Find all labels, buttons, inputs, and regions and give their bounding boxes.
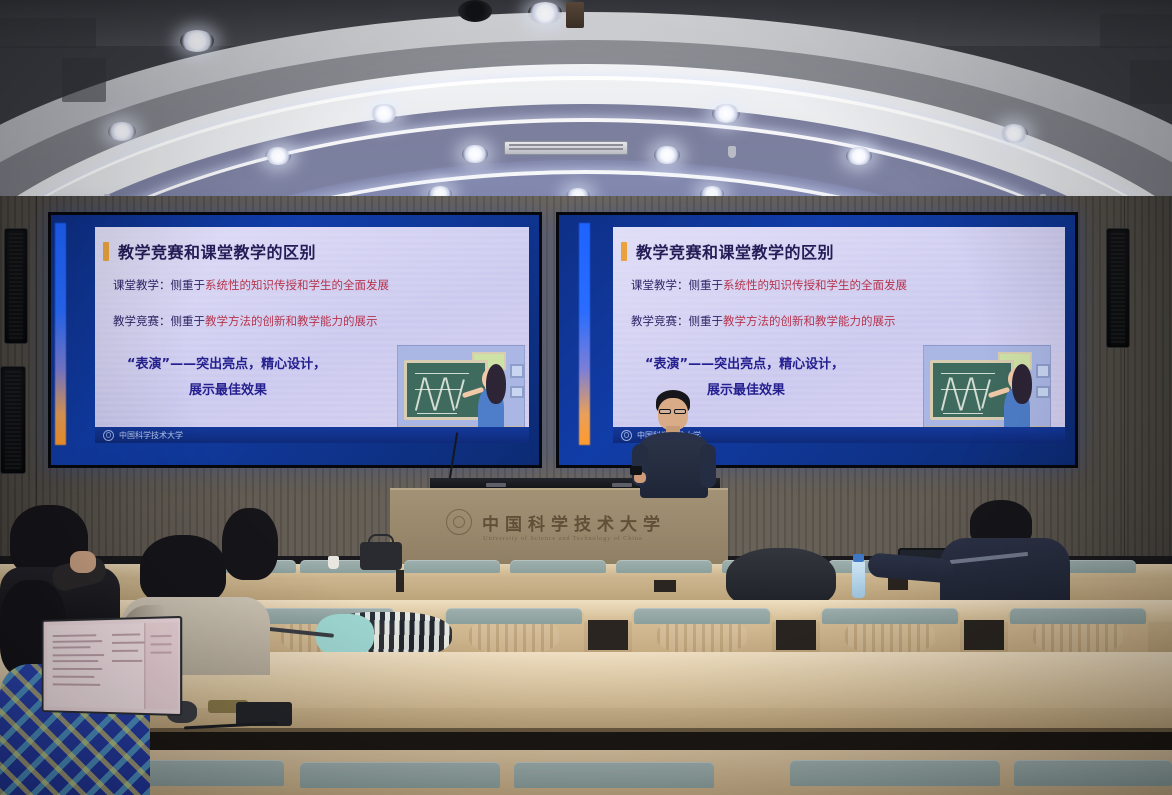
presenter-glasses-icon [659, 409, 671, 414]
slide-bullet-1-highlight: 系统性的知识传授和学生的全面发展 [205, 278, 389, 292]
laptop-icon [38, 618, 180, 718]
slide-bullet-2-highlight: 教学方法的创新和教学能力的展示 [723, 314, 896, 328]
audience-person-3 [222, 508, 288, 588]
slide-bullet-1: 课堂教学：侧重于系统性的知识传授和学生的全面发展 [631, 277, 907, 293]
slide-bullet-2-prefix: 教学竞赛：侧重于 [113, 314, 205, 328]
podium-name-cn: 中国科学技术大学 [482, 510, 666, 535]
seat-cushion [514, 762, 714, 788]
slide-bullet-1-prefix: 课堂教学：侧重于 [113, 278, 205, 292]
slide-bullet-2-highlight: 教学方法的创新和教学能力的展示 [205, 314, 378, 328]
speaker-icon [4, 228, 28, 344]
person-hair [140, 535, 226, 605]
title-accent-bar [103, 242, 109, 261]
ceiling-projector-mount [566, 2, 584, 28]
seat-cushion [634, 608, 770, 624]
screen-edge-gradient-left [55, 223, 66, 446]
slide-title: 教学竞赛和课堂教学的区别 [636, 239, 834, 263]
ceiling-grille [62, 58, 106, 102]
seat-gap [588, 620, 628, 650]
desk-underside-shadow [0, 728, 1172, 750]
seat-cushion [616, 560, 712, 573]
presenter-torso [640, 440, 708, 498]
water-bottle-icon [852, 560, 865, 598]
cartoon-poster [510, 386, 524, 398]
slide-footer-text: 中国科学技术大学 [119, 430, 183, 441]
seat-cushion [1010, 608, 1146, 624]
seat-cushion [1014, 760, 1172, 786]
ceiling-grille [0, 18, 96, 48]
laptop-screen [42, 616, 183, 716]
slide-bullet-1-highlight: 系统性的知识传授和学生的全面发展 [723, 278, 907, 292]
downlight-icon [462, 145, 488, 163]
audience-person-right [940, 500, 1070, 610]
slide-title-row: 教学竞赛和课堂教学的区别 [103, 239, 316, 263]
presenter-clicker [630, 466, 642, 475]
ustc-logo-icon [446, 509, 472, 535]
screen-edge-gradient-left [579, 223, 590, 446]
slide-bullet-2: 教学竞赛：侧重于教学方法的创新和教学能力的展示 [631, 313, 896, 329]
bottle-cap [853, 554, 864, 562]
downlight-icon [108, 122, 136, 141]
person-hand [70, 551, 96, 573]
slide-bullet-2: 教学竞赛：侧重于教学方法的创新和教学能力的展示 [113, 313, 378, 329]
cartoon-poster [1036, 364, 1050, 378]
slide-quote-line-2: 展示最佳效果 [189, 379, 267, 398]
ceiling-air-vent [504, 141, 628, 155]
slide-quote-line-1: “表演”——突出亮点，精心设计， [645, 353, 844, 372]
seat-cushion [790, 760, 1000, 786]
downlight-icon [180, 30, 214, 52]
slide-bullet-1: 课堂教学：侧重于系统性的知识传授和学生的全面发展 [113, 277, 389, 293]
downlight-icon [1000, 124, 1028, 143]
ceiling-grille [1100, 14, 1172, 48]
downlight-icon [370, 104, 398, 123]
seat-gap [964, 620, 1004, 650]
cup-icon [328, 556, 339, 569]
seat-gap [654, 580, 676, 592]
slide-bullet-1-prefix: 课堂教学：侧重于 [631, 278, 723, 292]
speaker-icon [1106, 228, 1130, 348]
slide-footer-left: 中国科学技术大学 [95, 427, 529, 443]
downlight-icon [528, 2, 562, 24]
slide-bullet-2-prefix: 教学竞赛：侧重于 [631, 314, 723, 328]
ceiling-grille [1130, 60, 1172, 104]
lecture-hall-photo: 教学竞赛和课堂教学的区别 课堂教学：侧重于系统性的知识传授和学生的全面发展 教学… [0, 0, 1172, 795]
presenter [630, 390, 726, 498]
seat-cushion [404, 560, 500, 573]
cartoon-poster [510, 364, 524, 378]
sprinkler-icon [728, 146, 736, 158]
downlight-icon [712, 104, 740, 123]
seat-cushion [446, 608, 582, 624]
downlight-icon [265, 147, 291, 165]
slide-left: 教学竞赛和课堂教学的区别 课堂教学：侧重于系统性的知识传授和学生的全面发展 教学… [95, 227, 529, 443]
handbag-icon [360, 542, 402, 570]
seat-gap [888, 578, 908, 590]
seat-gap [776, 620, 816, 650]
presenter-glasses-icon [674, 409, 686, 414]
downlight-icon [654, 146, 680, 164]
seat-cushion [300, 762, 500, 788]
slide-title-row: 教学竞赛和课堂教学的区别 [621, 239, 834, 263]
cartoon-teacher-hair [486, 364, 506, 404]
speaker-icon [0, 366, 26, 474]
seat-gap [396, 570, 404, 592]
podium-name-en: University of Science and Technology of … [483, 535, 643, 542]
presenter-arm-right [700, 444, 716, 488]
slide-illustration-teacher [923, 345, 1051, 437]
seat-cushion [822, 608, 958, 624]
seat-cushion [510, 560, 606, 573]
slide-illustration-teacher [397, 345, 525, 437]
slide-quote-line-1: “表演”——突出亮点，精心设计， [127, 353, 326, 372]
ceiling-recess-hole [458, 0, 492, 22]
projection-screen-left: 教学竞赛和课堂教学的区别 课堂教学：侧重于系统性的知识传授和学生的全面发展 教学… [48, 212, 542, 468]
slide-title: 教学竞赛和课堂教学的区别 [118, 239, 316, 263]
cartoon-teacher-hair [1012, 364, 1032, 404]
ceiling [0, 0, 1172, 216]
ustc-logo-icon [103, 430, 114, 441]
downlight-icon [846, 147, 872, 165]
title-accent-bar [621, 242, 627, 261]
person-hair [222, 508, 278, 580]
cartoon-poster [1036, 386, 1050, 398]
